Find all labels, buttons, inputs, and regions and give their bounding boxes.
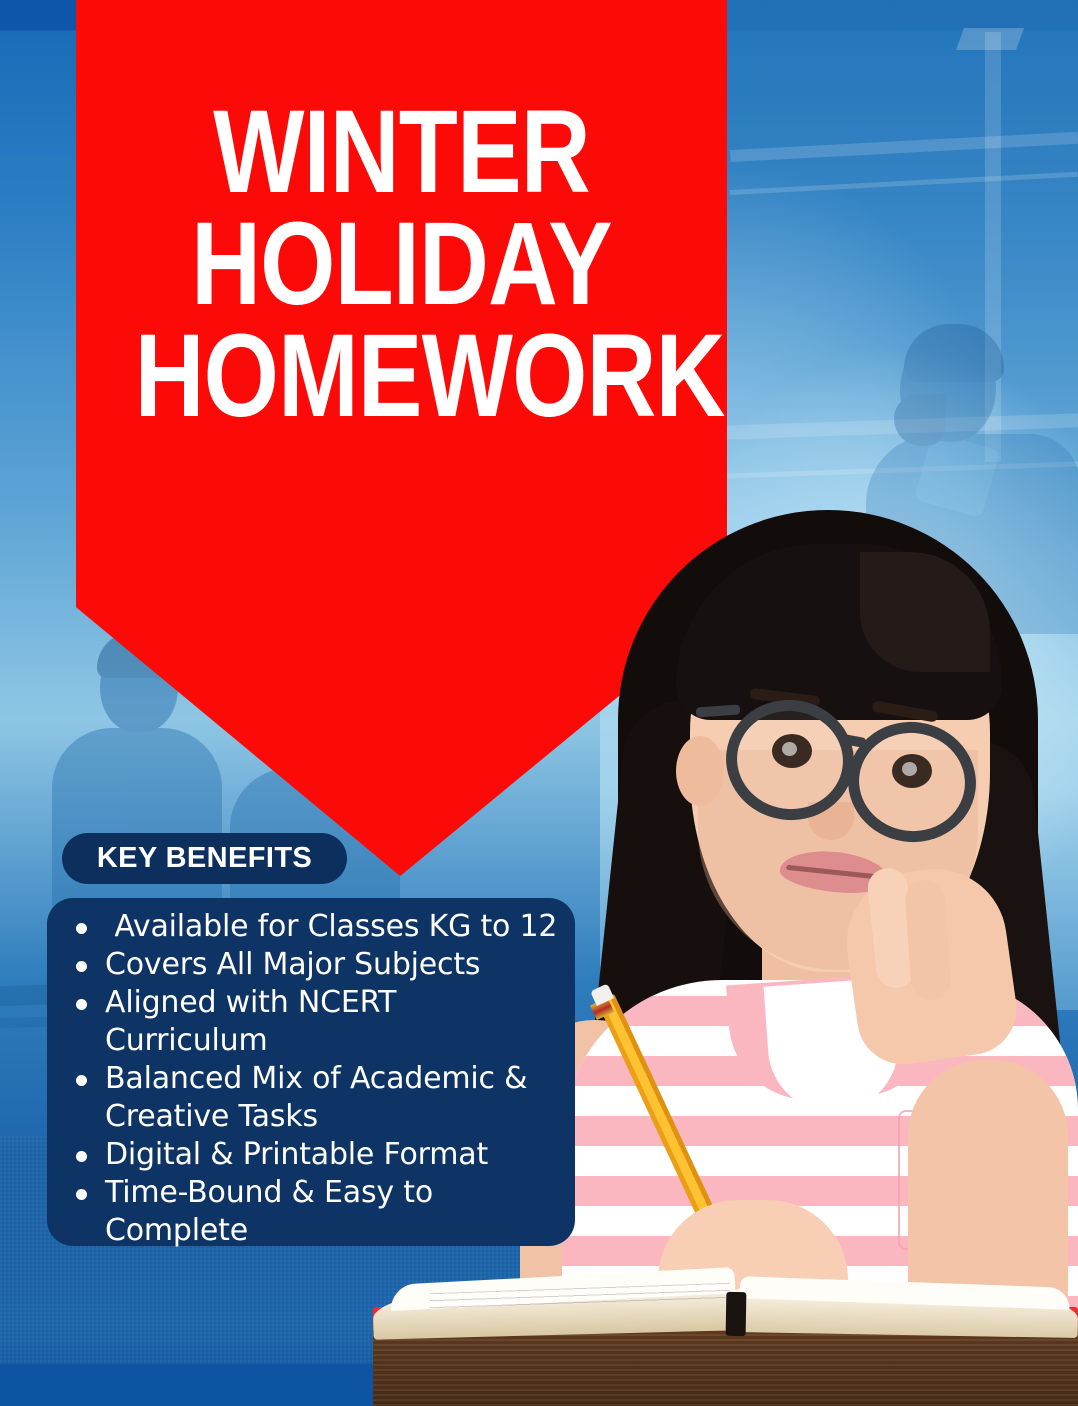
list-item: Aligned with NCERT Curriculum: [57, 984, 561, 1060]
list-item: Available for Classes KG to 12: [57, 908, 561, 946]
student-photo: [500, 500, 1078, 1406]
list-item: Digital & Printable Format: [57, 1136, 561, 1174]
list-item: Time-Bound & Easy to Complete: [57, 1174, 561, 1250]
page-title: WINTER HOLIDAY HOMEWORK: [135, 96, 669, 432]
list-item: Covers All Major Subjects: [57, 946, 561, 984]
benefits-list: Available for Classes KG to 12 Covers Al…: [57, 908, 561, 1250]
poster-root: WINTER HOLIDAY HOMEWORK: [0, 0, 1078, 1406]
list-item: Balanced Mix of Academic & Creative Task…: [57, 1060, 561, 1136]
ceiling-vent: [956, 28, 1024, 50]
book-spine: [726, 1292, 747, 1336]
key-benefits-badge: KEY BENEFITS: [62, 833, 347, 884]
key-benefits-label: KEY BENEFITS: [97, 842, 312, 875]
benefits-panel: Available for Classes KG to 12 Covers Al…: [47, 898, 575, 1246]
